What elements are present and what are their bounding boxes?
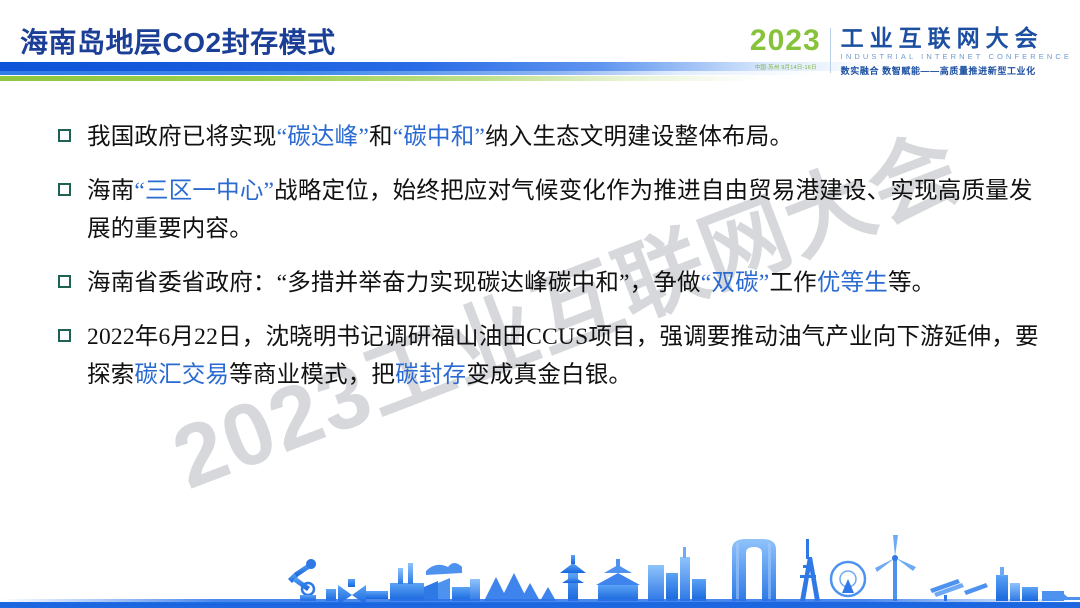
- eiffel-tower-icon: [800, 539, 820, 601]
- bullet-square-icon: [58, 329, 71, 342]
- logo-tagline: 数实融合 数智赋能——高质量推进新型工业化: [841, 64, 1072, 77]
- factory-icon: [390, 563, 480, 601]
- bullet-item: 我国政府已将实现“碳达峰”和“碳中和”纳入生态文明建设整体布局。: [58, 118, 1048, 156]
- wind-turbine-icon: [875, 535, 916, 601]
- bullet-text: 2022年6月22日，沈晓明书记调研福山油田CCUS项目，强调要推动油气产业向下…: [87, 318, 1048, 394]
- page-title: 海南岛地层CO2封存模式: [20, 21, 336, 61]
- robot-arm-icon: [288, 559, 316, 601]
- logo-conference-name-en: INDUSTRIAL INTERNET CONFERENCE: [841, 52, 1072, 61]
- bullet-item: 海南“三区一中心”战略定位，始终把应对气候变化作为推进自由贸易港建设、实现高质量…: [58, 172, 1048, 248]
- header-rule-blue-light: [0, 71, 820, 75]
- ferris-wheel-icon: [831, 562, 865, 596]
- tower-block-icon: [648, 547, 706, 601]
- slide-canvas: 2023工业互联网大会 海南岛地层CO2封存模式 2023 中国·苏州 9月14…: [0, 0, 1080, 608]
- mountains-icon: [484, 573, 556, 601]
- header-rule-blue: [0, 62, 880, 71]
- bullet-text: 我国政府已将实现“碳达峰”和“碳中和”纳入生态文明建设整体布局。: [87, 118, 1048, 156]
- body-text-run: 我国政府已将实现: [87, 124, 277, 150]
- body-text-run: 等。: [888, 270, 935, 296]
- body-text-run: 和: [369, 124, 393, 150]
- highlighted-term: “碳中和”: [393, 124, 485, 150]
- footer-skyline: [0, 513, 1080, 608]
- logo-conference-name-cn: 工业互联网大会: [841, 26, 1072, 50]
- body-text-run: 海南省委省政府：“多措并举奋力实现碳达峰碳中和”，争做: [87, 270, 701, 296]
- highlighted-term: 碳汇交易: [134, 362, 229, 388]
- body-text-run: 变成真金白银。: [466, 362, 632, 388]
- highlighted-term: “碳达峰”: [277, 124, 369, 150]
- logo-year: 2023: [750, 26, 821, 56]
- slide-body: 我国政府已将实现“碳达峰”和“碳中和”纳入生态文明建设整体布局。 海南“三区一中…: [58, 118, 1048, 410]
- highlighted-term: “双碳”: [701, 270, 770, 296]
- bullet-square-icon: [58, 183, 71, 196]
- highlighted-term: 碳封存: [395, 362, 466, 388]
- body-text-run: 纳入生态文明建设整体布局。: [485, 124, 793, 150]
- skyline-illustration: [0, 513, 1080, 608]
- refinery-icon: [996, 567, 1064, 601]
- conference-logo: 2023 中国·苏州 9月14日-16日 工业互联网大会 INDUSTRIAL …: [750, 26, 1072, 77]
- solar-panels-icon: [930, 579, 988, 601]
- bullet-text: 海南“三区一中心”战略定位，始终把应对气候变化作为推进自由贸易港建设、实现高质量…: [87, 172, 1048, 248]
- bullet-item: 2022年6月22日，沈晓明书记调研福山油田CCUS项目，强调要推动油气产业向下…: [58, 318, 1048, 394]
- logo-year-subtitle: 中国·苏州 9月14日-16日: [754, 62, 816, 70]
- body-text-run: 工作: [769, 270, 816, 296]
- body-text-run: 等商业模式，把: [229, 362, 395, 388]
- bullet-text: 海南省委省政府：“多措并举奋力实现碳达峰碳中和”，争做“双碳”工作优等生等。: [87, 264, 1048, 302]
- highlighted-term: 优等生: [817, 270, 888, 296]
- body-text-run: 海南: [87, 178, 134, 204]
- pagoda-icon: [560, 555, 586, 601]
- bullet-square-icon: [58, 129, 71, 142]
- logo-name-block: 工业互联网大会 INDUSTRIAL INTERNET CONFERENCE 数…: [831, 26, 1072, 77]
- bullet-square-icon: [58, 275, 71, 288]
- temple-icon: [596, 559, 640, 601]
- bullet-item: 海南省委省政府：“多措并举奋力实现碳达峰碳中和”，争做“双碳”工作优等生等。: [58, 264, 1048, 302]
- header-rule-green: [0, 76, 760, 81]
- gate-of-the-orient-icon: [732, 539, 776, 601]
- highlighted-term: “三区一中心”: [134, 178, 274, 204]
- logo-year-block: 2023 中国·苏州 9月14日-16日: [750, 26, 830, 71]
